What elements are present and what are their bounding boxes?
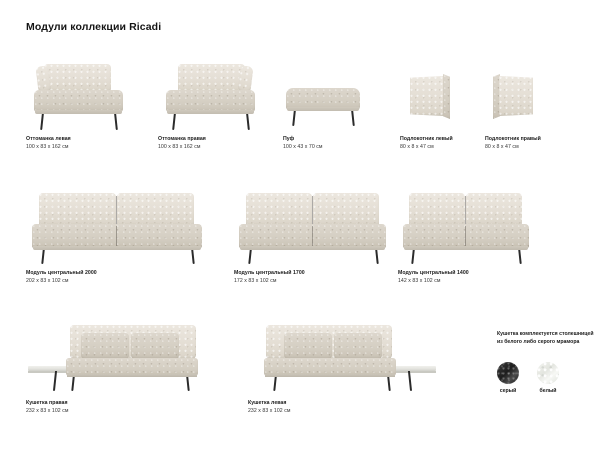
product-name: Пуф xyxy=(283,136,323,142)
product-name: Оттоманка правая xyxy=(158,136,206,142)
product-image-module-2000 xyxy=(26,190,211,265)
catalog-page: Модули коллекции Ricadi Оттоманка левая … xyxy=(0,0,600,450)
product-card-module-1400[interactable]: Модуль центральный 1400 142 x 83 x 102 с… xyxy=(398,190,548,265)
marble-swatch-white[interactable]: белый xyxy=(537,362,559,394)
product-caption: Подлокотник левый 80 x 8 x 47 см xyxy=(400,136,453,150)
product-name: Кушетка правая xyxy=(26,400,68,406)
product-dimensions: 202 x 83 x 102 см xyxy=(26,278,97,284)
product-dimensions: 232 x 83 x 102 см xyxy=(26,408,68,414)
swatch-label: белый xyxy=(539,388,556,394)
product-card-module-1700[interactable]: Модуль центральный 1700 172 x 83 x 102 с… xyxy=(234,190,399,265)
product-image-module-1400 xyxy=(398,190,548,265)
product-dimensions: 172 x 83 x 102 см xyxy=(234,278,305,284)
marble-swatch-grey[interactable]: серый xyxy=(497,362,519,394)
product-caption: Подлокотник правый 80 x 8 x 47 см xyxy=(485,136,541,150)
product-image-chaise-right xyxy=(26,322,216,394)
product-dimensions: 100 x 83 x 162 см xyxy=(26,144,71,150)
product-caption: Кушетка правая 232 x 83 x 102 см xyxy=(26,400,68,414)
product-dimensions: 80 x 8 x 47 см xyxy=(485,144,541,150)
product-card-module-2000[interactable]: Модуль центральный 2000 202 x 83 x 102 с… xyxy=(26,190,211,265)
swatch-label: серый xyxy=(500,388,517,394)
product-name: Модуль центральный 1400 xyxy=(398,270,469,276)
product-name: Оттоманка левая xyxy=(26,136,71,142)
product-image-ottoman-right xyxy=(158,60,263,132)
product-dimensions: 100 x 83 x 162 см xyxy=(158,144,206,150)
product-name: Подлокотник левый xyxy=(400,136,453,142)
product-caption: Оттоманка левая 100 x 83 x 162 см xyxy=(26,136,71,150)
product-card-ottoman-left[interactable]: Оттоманка левая 100 x 83 x 162 см xyxy=(26,60,131,132)
page-title: Модули коллекции Ricadi xyxy=(26,21,161,33)
product-caption: Модуль центральный 2000 202 x 83 x 102 с… xyxy=(26,270,97,284)
product-dimensions: 232 x 83 x 102 см xyxy=(248,408,290,414)
product-caption: Оттоманка правая 100 x 83 x 162 см xyxy=(158,136,206,150)
marble-grey-swatch-icon xyxy=(497,362,519,384)
product-name: Модуль центральный 1700 xyxy=(234,270,305,276)
product-image-module-1700 xyxy=(234,190,399,265)
product-card-armrest-right[interactable]: Подлокотник правый 80 x 8 x 47 см xyxy=(485,60,580,132)
product-card-chaise-left[interactable]: Кушетка левая 232 x 83 x 102 см xyxy=(248,322,443,394)
product-image-pouf xyxy=(283,60,383,132)
product-image-ottoman-left xyxy=(26,60,131,132)
product-name: Кушетка левая xyxy=(248,400,290,406)
marble-note: Кушетка комплектуется столешницей из бел… xyxy=(497,330,595,346)
product-caption: Пуф 100 x 43 x 70 см xyxy=(283,136,323,150)
marble-white-swatch-icon xyxy=(537,362,559,384)
product-dimensions: 80 x 8 x 47 см xyxy=(400,144,453,150)
product-card-armrest-left[interactable]: Подлокотник левый 80 x 8 x 47 см xyxy=(400,60,485,132)
product-image-armrest-left xyxy=(400,60,485,132)
product-caption: Кушетка левая 232 x 83 x 102 см xyxy=(248,400,290,414)
product-name: Модуль центральный 2000 xyxy=(26,270,97,276)
product-caption: Модуль центральный 1400 142 x 83 x 102 с… xyxy=(398,270,469,284)
product-card-chaise-right[interactable]: Кушетка правая 232 x 83 x 102 см xyxy=(26,322,216,394)
marble-swatch-row: серый белый xyxy=(497,362,559,394)
product-caption: Модуль центральный 1700 172 x 83 x 102 с… xyxy=(234,270,305,284)
product-card-pouf[interactable]: Пуф 100 x 43 x 70 см xyxy=(283,60,383,132)
product-image-armrest-right xyxy=(485,60,580,132)
product-dimensions: 142 x 83 x 102 см xyxy=(398,278,469,284)
product-image-chaise-left xyxy=(248,322,443,394)
product-dimensions: 100 x 43 x 70 см xyxy=(283,144,323,150)
product-name: Подлокотник правый xyxy=(485,136,541,142)
product-card-ottoman-right[interactable]: Оттоманка правая 100 x 83 x 162 см xyxy=(158,60,263,132)
